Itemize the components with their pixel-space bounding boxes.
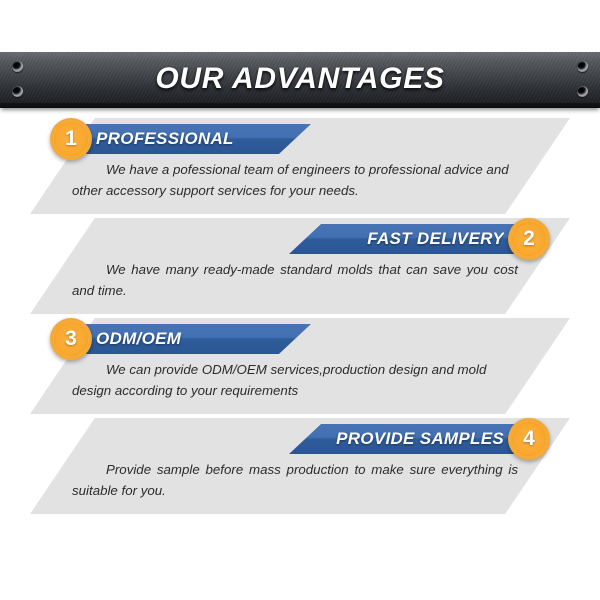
advantage-title: FAST DELIVERY <box>289 224 504 254</box>
advantage-title-ribbon: FAST DELIVERY <box>289 224 518 254</box>
advantage-body-text: Provide sample before mass production to… <box>72 460 518 501</box>
advantage-item-2: FAST DELIVERY 2 We have many ready-made … <box>0 218 600 318</box>
advantage-number: 3 <box>50 318 92 360</box>
advantage-number: 1 <box>50 118 92 160</box>
advantage-body-text: We have many ready-made standard molds t… <box>72 260 518 301</box>
advantage-number: 2 <box>508 218 550 260</box>
header-metal-banner: OUR ADVANTAGES <box>0 52 600 108</box>
advantage-item-3: ODM/OEM 3 We can provide ODM/OEM service… <box>0 318 600 418</box>
advantage-title: ODM/OEM <box>96 324 311 354</box>
advantage-title-ribbon: ODM/OEM <box>82 324 311 354</box>
advantage-number-badge: 2 <box>508 218 550 260</box>
page-title: OUR ADVANTAGES <box>0 52 600 108</box>
advantage-body-text: We can provide ODM/OEM services,producti… <box>72 360 522 401</box>
advantage-number-badge: 4 <box>508 418 550 460</box>
advantage-number-badge: 3 <box>50 318 92 360</box>
advantage-number-badge: 1 <box>50 118 92 160</box>
advantage-title: PROFESSIONAL <box>96 124 311 154</box>
advantage-title-ribbon: PROVIDE SAMPLES <box>289 424 518 454</box>
advantage-title: PROVIDE SAMPLES <box>289 424 504 454</box>
advantage-title-ribbon: PROFESSIONAL <box>82 124 311 154</box>
advantage-item-1: PROFESSIONAL 1 We have a pofessional tea… <box>0 118 600 218</box>
advantages-list: PROFESSIONAL 1 We have a pofessional tea… <box>0 118 600 518</box>
advantage-body-text: We have a pofessional team of engineers … <box>72 160 522 201</box>
advantage-item-4: PROVIDE SAMPLES 4 Provide sample before … <box>0 418 600 518</box>
advantage-number: 4 <box>508 418 550 460</box>
